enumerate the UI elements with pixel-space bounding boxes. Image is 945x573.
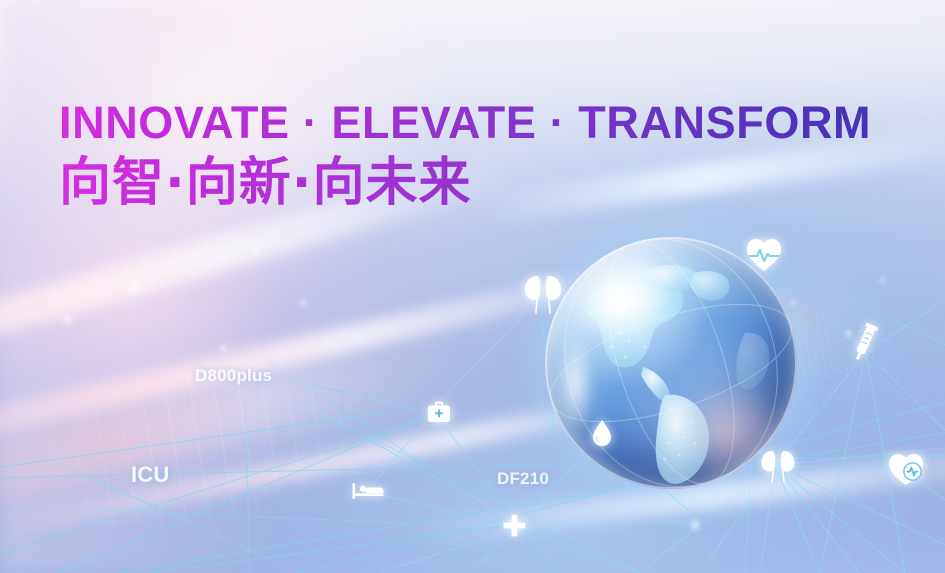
page-subtitle: 向智·向新·向未来 [59, 155, 871, 211]
product-tag-d800plus: D800plus [195, 366, 272, 386]
headline-block: INNOVATE · ELEVATE · TRANSFORM 向智·向新·向未来 [59, 100, 871, 211]
page-title: INNOVATE · ELEVATE · TRANSFORM [59, 100, 871, 147]
medical-cross-icon [503, 514, 526, 537]
product-tag-icu: ICU [131, 462, 170, 488]
hospital-bed-icon [352, 480, 384, 500]
product-tag-df210: DF210 [497, 469, 549, 489]
heart-pulse-icon [888, 453, 924, 486]
water-drop-icon [591, 419, 613, 447]
kidneys-icon [758, 448, 798, 484]
heart-pulse-icon [746, 238, 782, 272]
medical-bag-icon [427, 401, 451, 423]
hero-banner: D800plus ICU DF210 INNOVATE · ELEVATE · … [0, 0, 945, 573]
kidneys-icon [521, 270, 565, 318]
syringe-icon [852, 320, 878, 364]
